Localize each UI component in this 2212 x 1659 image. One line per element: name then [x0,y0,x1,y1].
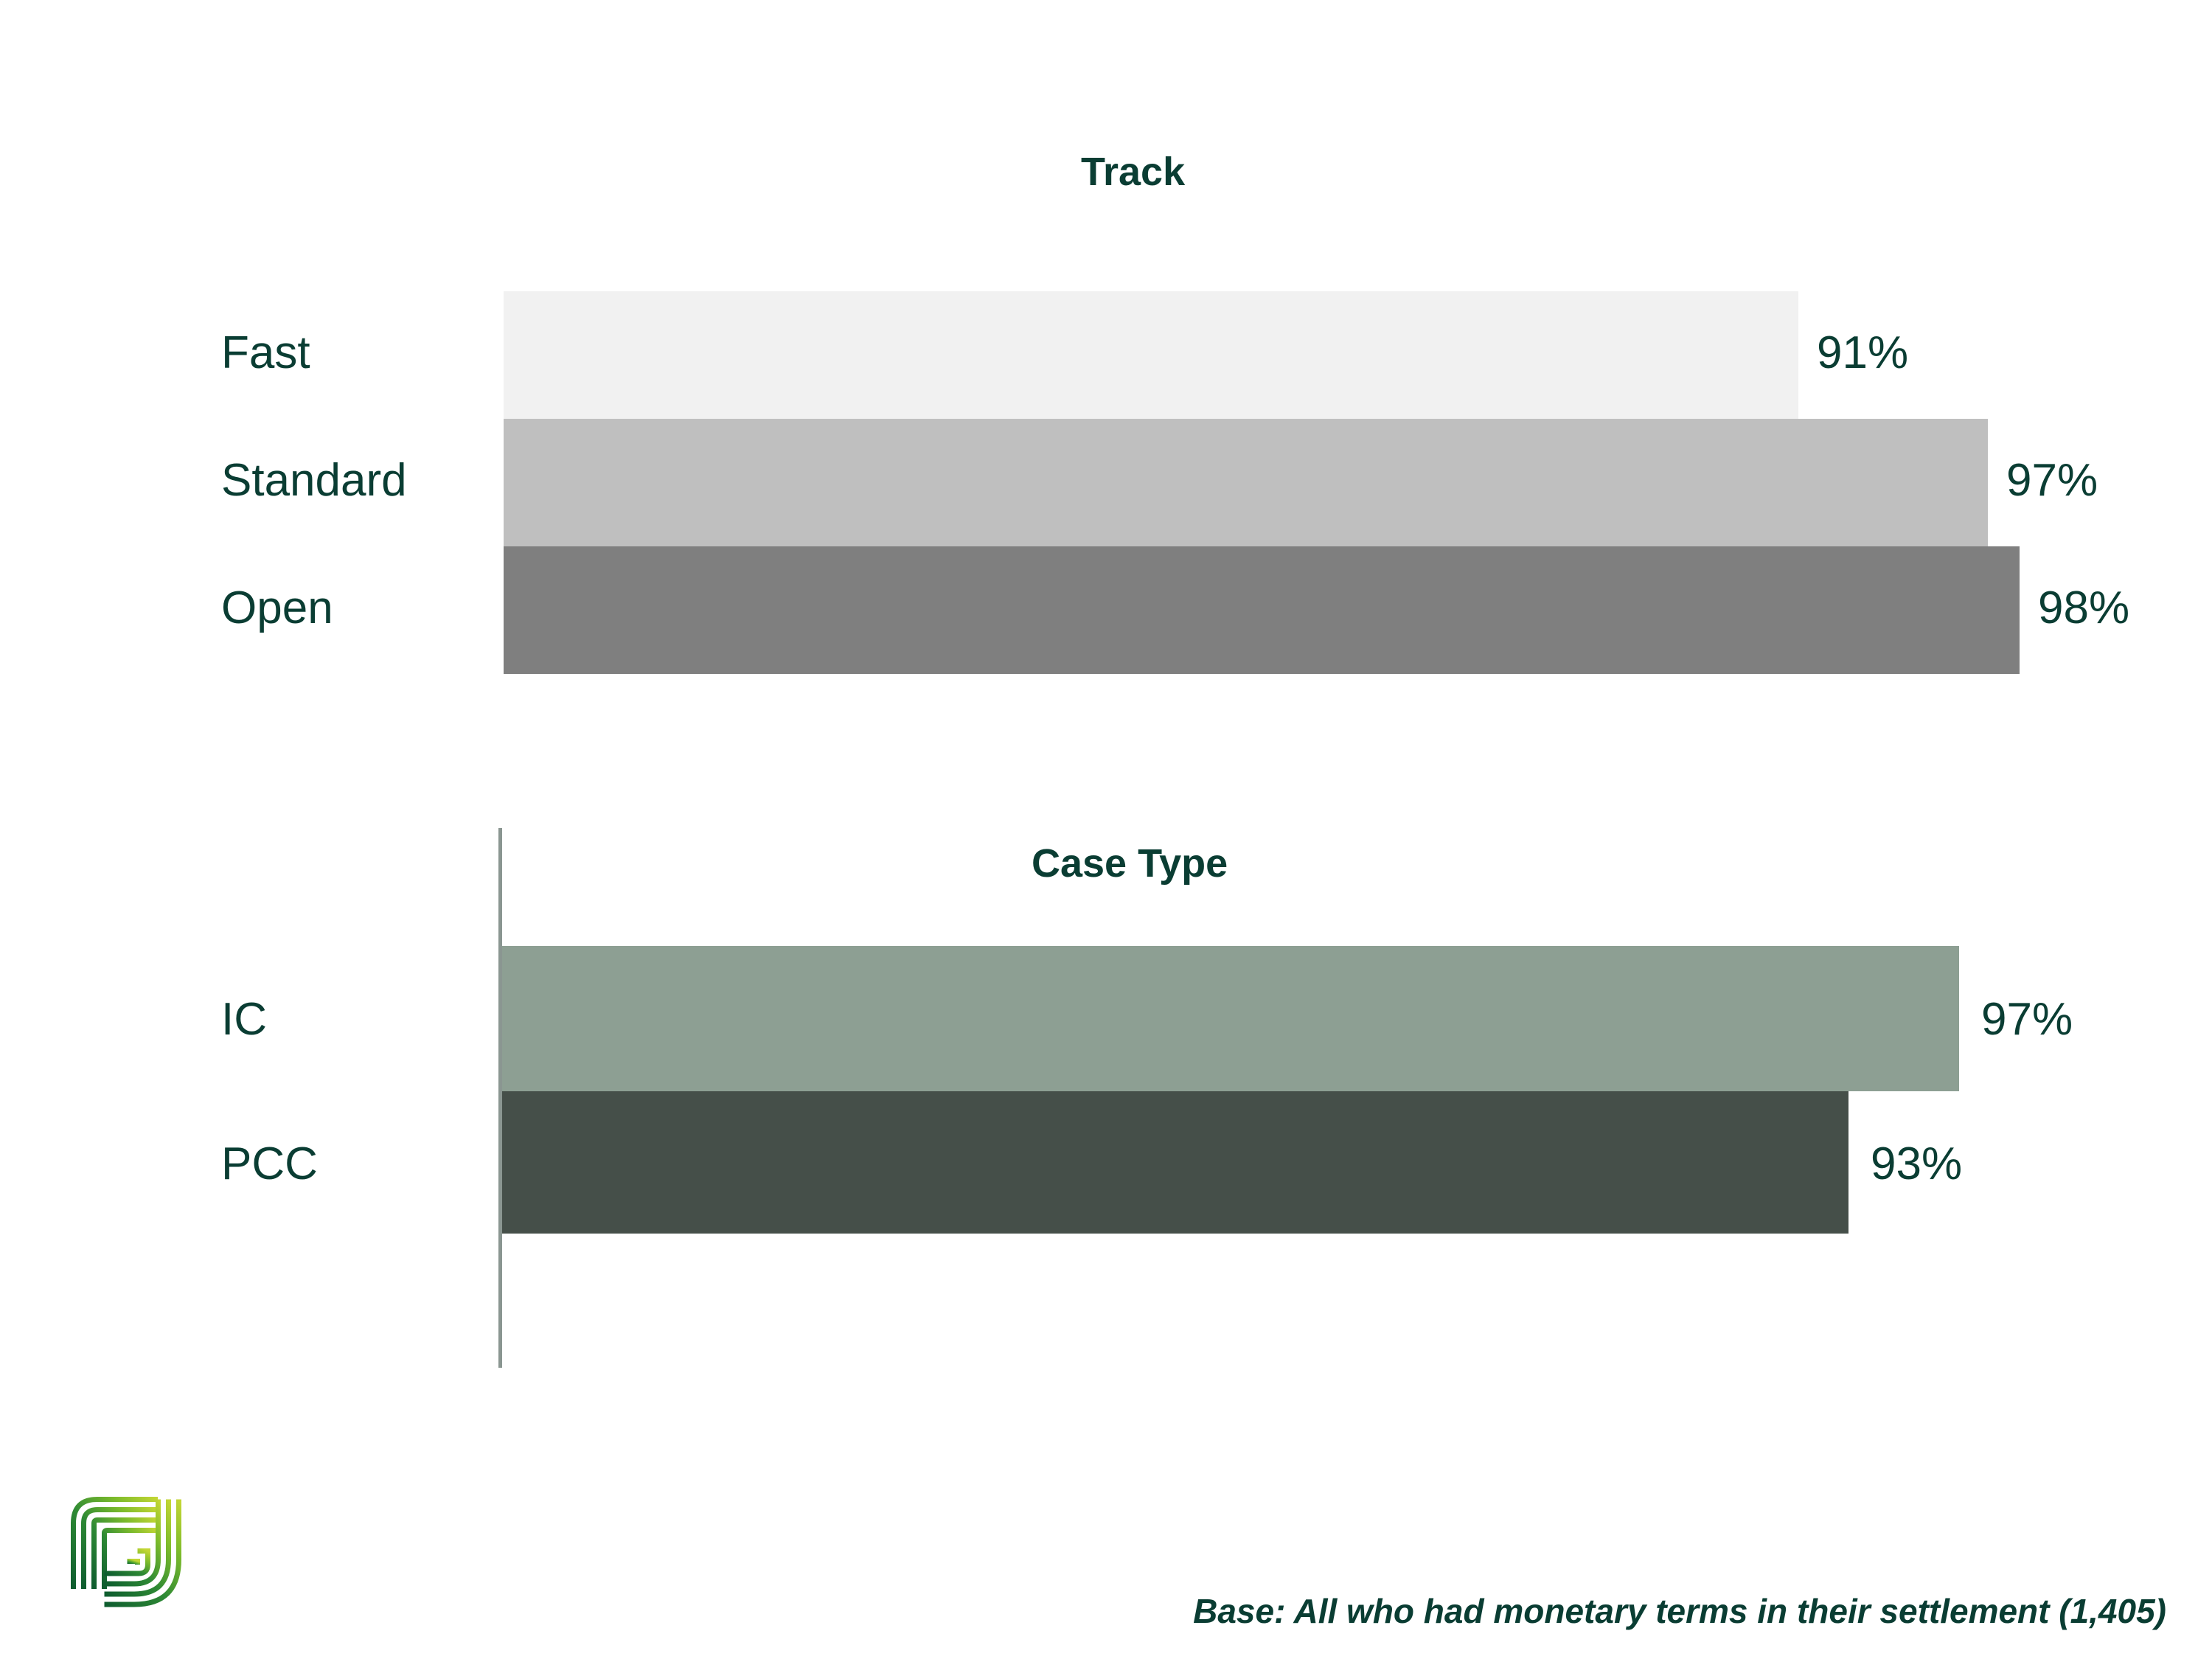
value-label-ic: 97% [1981,997,2073,1043]
value-label-standard: 97% [2006,458,2098,504]
category-label-open: Open [221,585,333,631]
base-note-text: Base: All who had monetary terms in thei… [1193,1591,2166,1631]
bar-track-open [504,546,2020,674]
category-label-pcc: PCC [221,1141,318,1187]
bar-casetype-ic [502,946,1959,1091]
category-label-fast: Fast [221,330,310,376]
track-chart-title: Track [1081,149,1185,195]
bar-track-fast [504,291,1798,419]
category-label-ic: IC [221,997,267,1043]
value-label-open: 98% [2038,585,2129,631]
value-label-pcc: 93% [1871,1141,1962,1187]
slide-canvas: Track Fast Standard Open 91% 97% 98% Cas… [0,0,2212,1659]
category-label-standard: Standard [221,458,407,504]
brand-logo-icon [71,1497,189,1615]
value-label-fast: 91% [1817,330,1908,376]
case-type-chart-title: Case Type [1032,841,1228,886]
bar-casetype-pcc [502,1091,1848,1234]
bar-track-standard [504,419,1988,546]
